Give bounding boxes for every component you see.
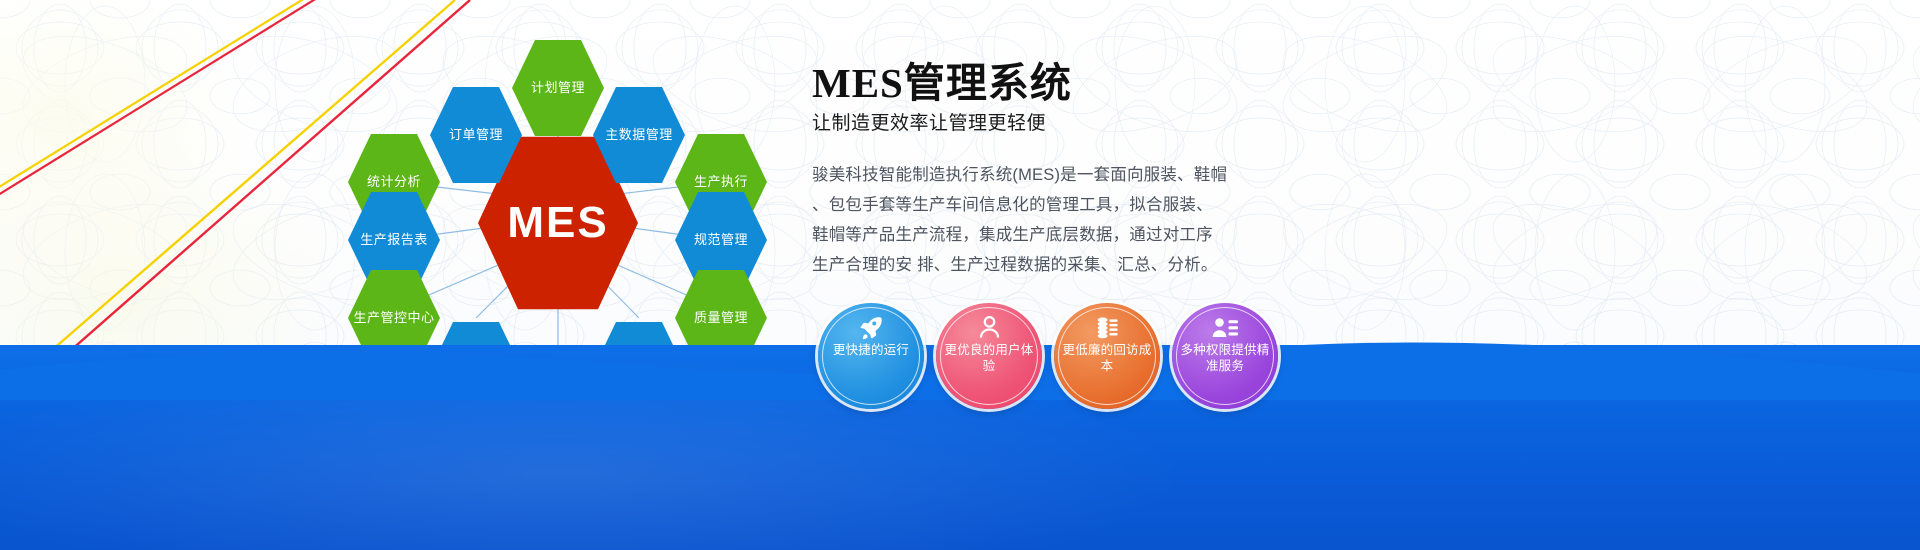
feature-circle-0[interactable]: 更快捷的运行 [818,303,924,409]
description-paragraph: 骏美科技智能制造执行系统(MES)是一套面向服装、鞋帽 、包包手套等生产车间信息… [812,160,1282,280]
banner-text-column: MES管理系统 让制造更效率让管理更轻便 骏美科技智能制造执行系统(MES)是一… [812,60,1282,280]
hex-node-0-label: 计划管理 [527,81,589,96]
hex-node-5-label: 生产报告表 [356,233,432,248]
description-line-1: 骏美科技智能制造执行系统(MES)是一套面向服装、鞋帽 [812,160,1282,190]
hex-node-3-label: 统计分析 [363,175,425,190]
mes-banner: MES 计划管理 订单管理 主数据管理 统计分析 生产执行 生产报告表 规范管理… [0,0,1920,550]
feature-circle-2-label: 更低廉的回访成本 [1054,341,1160,374]
description-line-3: 鞋帽等产品生产流程，集成生产底层数据，通过对工序 [812,220,1282,250]
hex-node-4-label: 生产执行 [690,175,752,190]
page-subtitle: 让制造更效率让管理更轻便 [812,113,1282,136]
feature-circle-3[interactable]: 多种权限提供精准服务 [1172,303,1278,409]
hex-node-6-label: 规范管理 [690,233,752,248]
user-icon [976,314,1003,341]
hex-node-1-label: 订单管理 [445,128,507,143]
feature-circle-1-label: 更优良的用户体验 [936,341,1042,374]
rocket-icon [858,314,884,341]
description-line-2: 、包包手套等生产车间信息化的管理工具，拟合服装、 [812,190,1282,220]
feature-circle-0-label: 更快捷的运行 [825,341,917,358]
description-line-4: 生产合理的安 排、生产过程数据的采集、汇总、分析。 [812,250,1282,280]
hex-node-7-label: 生产管控中心 [349,311,438,326]
hex-node-center-label: MES [503,198,612,249]
feature-circle-2[interactable]: 更低廉的回访成本 [1054,303,1160,409]
feature-circle-3-label: 多种权限提供精准服务 [1172,341,1278,374]
user-list-icon [1211,314,1239,341]
coins-icon [1094,314,1120,341]
hex-node-8-label: 质量管理 [690,311,752,326]
feature-circle-1[interactable]: 更优良的用户体验 [936,303,1042,409]
hex-node-2-label: 主数据管理 [601,128,677,143]
page-title: MES管理系统 [812,60,1282,107]
feature-circle-list: 更快捷的运行 更优良的用户体验 [818,303,1318,413]
